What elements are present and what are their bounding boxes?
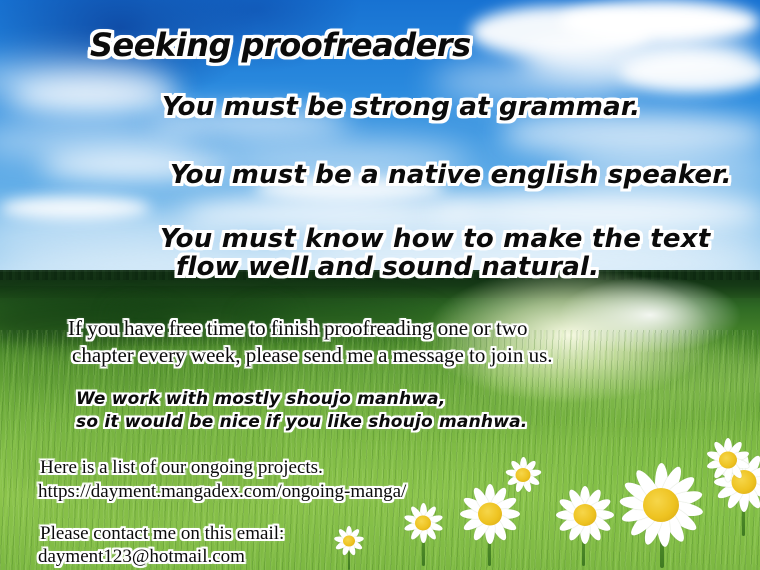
proofreader-recruitment-poster: Seeking proofreaders You must be strong …: [0, 0, 760, 570]
contact-label: Please contact me on this email:: [40, 523, 284, 545]
daisy-small-upper: [500, 452, 546, 498]
daisy-large: [608, 452, 714, 558]
requirement-line-2: You must be a native english speaker.: [170, 160, 732, 190]
requirement-line-4: flow well and sound natural.: [176, 252, 599, 282]
contact-email[interactable]: dayment123@hotmail.com: [38, 546, 245, 568]
genre-note-line-1: We work with mostly shoujo manhwa,: [76, 389, 446, 409]
daisy-small-left: [398, 498, 448, 548]
daisy-tiny-left: [330, 522, 368, 560]
daisy-upper-right: [700, 432, 756, 488]
genre-note-line-2: so it would be nice if you like shoujo m…: [76, 412, 527, 432]
availability-line-1: If you have free time to finish proofrea…: [68, 316, 528, 341]
daisy-mid-left: [548, 478, 622, 552]
availability-line-2: chapter every week, please send me a mes…: [72, 343, 553, 368]
page-title: Seeking proofreaders: [90, 26, 471, 64]
projects-label: Here is a list of our ongoing projects.: [40, 457, 323, 479]
projects-url[interactable]: https://dayment.mangadex.com/ongoing-man…: [38, 481, 406, 503]
requirement-line-3: You must know how to make the text: [160, 224, 710, 254]
requirement-line-1: You must be strong at grammar.: [162, 92, 640, 122]
